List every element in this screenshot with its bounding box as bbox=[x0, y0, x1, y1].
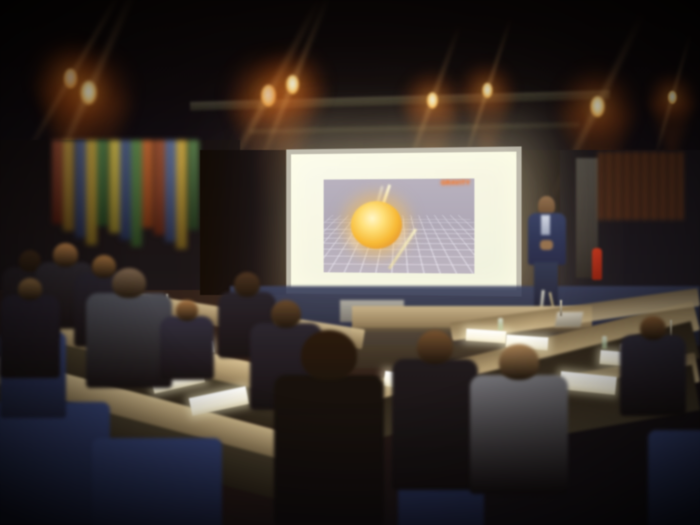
attendee-8 bbox=[274, 330, 384, 525]
flag-11 bbox=[165, 140, 176, 242]
attendee-7-head bbox=[271, 300, 301, 328]
attendee-12 bbox=[160, 300, 214, 380]
water-bottle-2 bbox=[602, 336, 607, 349]
lamp-4-core bbox=[286, 75, 299, 94]
attendee-5-head bbox=[18, 278, 42, 300]
flag-7 bbox=[120, 140, 131, 240]
attendee-5 bbox=[0, 278, 60, 378]
lamp-6-core bbox=[482, 83, 492, 98]
flag-9 bbox=[142, 140, 153, 228]
flag-6 bbox=[109, 140, 120, 233]
slide-gravity-well: GRAVITY bbox=[324, 178, 475, 273]
attendee-9-head bbox=[417, 330, 453, 364]
attendee-4-head bbox=[112, 268, 146, 298]
flag-13 bbox=[188, 140, 199, 230]
attendee-5-body bbox=[0, 295, 60, 378]
projection-screen: GRAVITY bbox=[286, 146, 521, 296]
desk-microphone-1 bbox=[560, 300, 562, 316]
chair-foreground-far-right bbox=[648, 430, 700, 525]
attendee-8-head bbox=[301, 330, 357, 380]
conference-room-photo: GRAVITY bbox=[0, 0, 700, 525]
flag-8 bbox=[131, 140, 142, 247]
attendee-8-body bbox=[274, 375, 384, 525]
flag-12 bbox=[176, 140, 187, 249]
attendee-11-head bbox=[640, 316, 666, 340]
attendee-9-body bbox=[392, 359, 478, 490]
presenter-hands bbox=[540, 240, 553, 250]
flag-5 bbox=[97, 140, 108, 226]
yellow-sphere-mass bbox=[351, 201, 402, 249]
orange-curtain bbox=[598, 152, 684, 220]
attendee-11 bbox=[620, 316, 686, 416]
chair-foreground-left-2 bbox=[92, 438, 222, 525]
flag-4 bbox=[86, 140, 97, 245]
attendee-10-body bbox=[470, 375, 568, 494]
flag-10 bbox=[154, 140, 165, 235]
fire-extinguisher-icon bbox=[592, 248, 602, 280]
lamp-2-core bbox=[81, 81, 97, 105]
presenter bbox=[524, 196, 570, 312]
attendee-12-head bbox=[176, 300, 198, 321]
attendee-12-body bbox=[160, 316, 214, 380]
lamp-7-core bbox=[590, 96, 604, 117]
attendee-10-head bbox=[499, 344, 539, 380]
lamp-5-core bbox=[427, 92, 438, 108]
attendee-11-body bbox=[620, 335, 686, 416]
laptop bbox=[555, 312, 584, 327]
attendee-10 bbox=[470, 344, 568, 494]
flag-2 bbox=[63, 140, 74, 231]
attendee-6-head bbox=[234, 272, 260, 297]
lamp-8-core bbox=[668, 91, 677, 104]
flag-3 bbox=[75, 140, 86, 238]
slide-caption: GRAVITY bbox=[441, 181, 470, 187]
presenter-legs bbox=[534, 262, 558, 312]
attendee-9 bbox=[392, 330, 478, 490]
flag-row bbox=[52, 140, 202, 255]
water-bottle-1 bbox=[498, 318, 503, 331]
flag-1 bbox=[52, 140, 63, 224]
presenter-shirt bbox=[541, 215, 550, 235]
projection-screen-surface: GRAVITY bbox=[291, 152, 516, 291]
